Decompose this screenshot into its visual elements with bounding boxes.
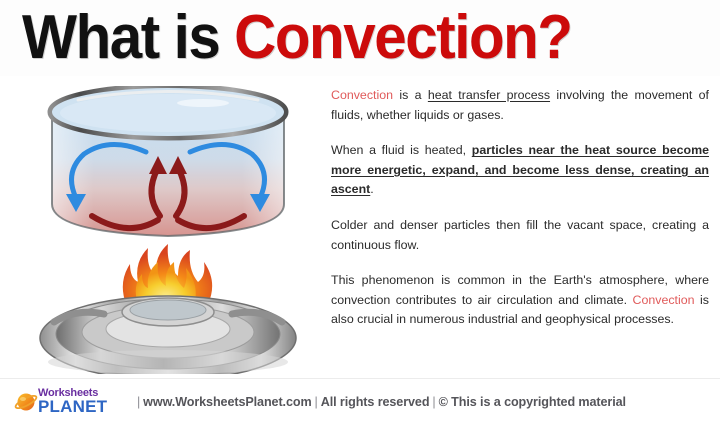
footer-website[interactable]: www.WorksheetsPlanet.com [143,395,311,409]
title-black-text: What is [22,3,234,72]
logo-wordmark: Worksheets PLANET [38,386,122,418]
footer-rights: All rights reserved [321,395,430,409]
keyword-convection-2: Convection [633,293,695,307]
convection-illustration [18,86,318,374]
burner-shadow [48,350,288,374]
page-title: What is Convection? [22,2,572,74]
paragraph-3: Colder and denser particles then fill th… [331,216,709,255]
paragraph-2: When a fluid is heated, particles near t… [331,141,709,200]
p3-run-1: Colder and denser particles then fill th… [331,218,709,252]
planet-icon [14,390,38,414]
p2-run-3: . [370,182,373,196]
burner-cap-inner [130,300,206,320]
title-red-text: Convection? [234,3,571,72]
p1-run-2: is a [393,88,428,102]
infographic-page: What is Convection? [0,0,720,424]
rim-specular [177,99,229,107]
footer-bar: Worksheets PLANET |www.WorksheetsPlanet.… [0,379,720,424]
logo-text-planet: PLANET [38,397,107,416]
gas-burner-group [40,296,296,374]
keyword-heat-transfer-process: heat transfer process [428,88,550,102]
keyword-convection-1: Convection [331,88,393,102]
convection-diagram-svg [18,86,318,374]
footer-separator-3: | [429,395,438,409]
worksheets-planet-logo[interactable]: Worksheets PLANET [14,386,122,418]
p2-run-1: When a fluid is heated, [331,143,472,157]
footer-separator-2: | [312,395,321,409]
beaker-group [52,88,284,236]
footer-separator-1: | [134,395,143,409]
footer-credits: |www.WorksheetsPlanet.com|All rights res… [134,395,626,409]
footer-copyright: © This is a copyrighted material [439,395,626,409]
description-text-column: Convection is a heat transfer process in… [331,86,709,372]
paragraph-1: Convection is a heat transfer process in… [331,86,709,125]
header-banner: What is Convection? [0,0,720,76]
beaker-surface-inner [60,94,276,132]
paragraph-4: This phenomenon is common in the Earth's… [331,271,709,330]
